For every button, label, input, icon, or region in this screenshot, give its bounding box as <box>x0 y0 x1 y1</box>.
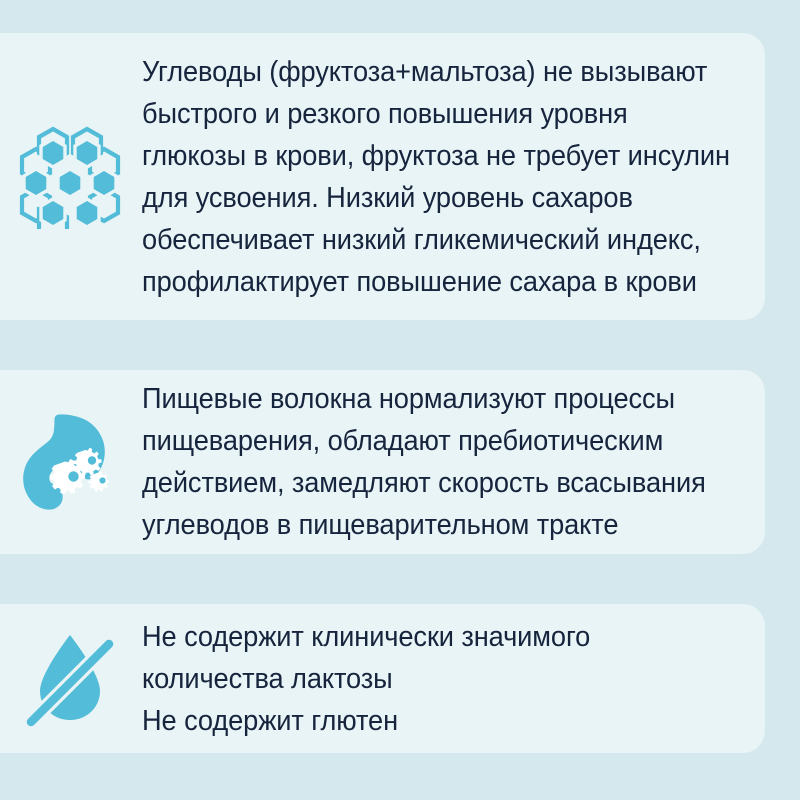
benefit-card-no-lactose-gluten: Не содержит клинически значимого количес… <box>0 604 765 753</box>
no-lactose-droplet-icon <box>0 627 140 731</box>
benefit-card-fibers: Пищевые волокна нормализуют процессы пищ… <box>0 370 765 554</box>
benefit-text-no-lactose-gluten: Не содержит клинически значимого количес… <box>142 616 590 742</box>
benefit-text-carbohydrates: Углеводы (фруктоза+мальтоза) не вызывают… <box>142 51 730 303</box>
benefit-card-carbohydrates: Углеводы (фруктоза+мальтоза) не вызывают… <box>0 33 765 320</box>
stomach-gears-icon <box>0 410 140 514</box>
infographic-root: Углеводы (фруктоза+мальтоза) не вызывают… <box>0 0 800 800</box>
honeycomb-icon <box>0 125 140 229</box>
benefit-text-fibers: Пищевые волокна нормализуют процессы пищ… <box>142 378 706 546</box>
